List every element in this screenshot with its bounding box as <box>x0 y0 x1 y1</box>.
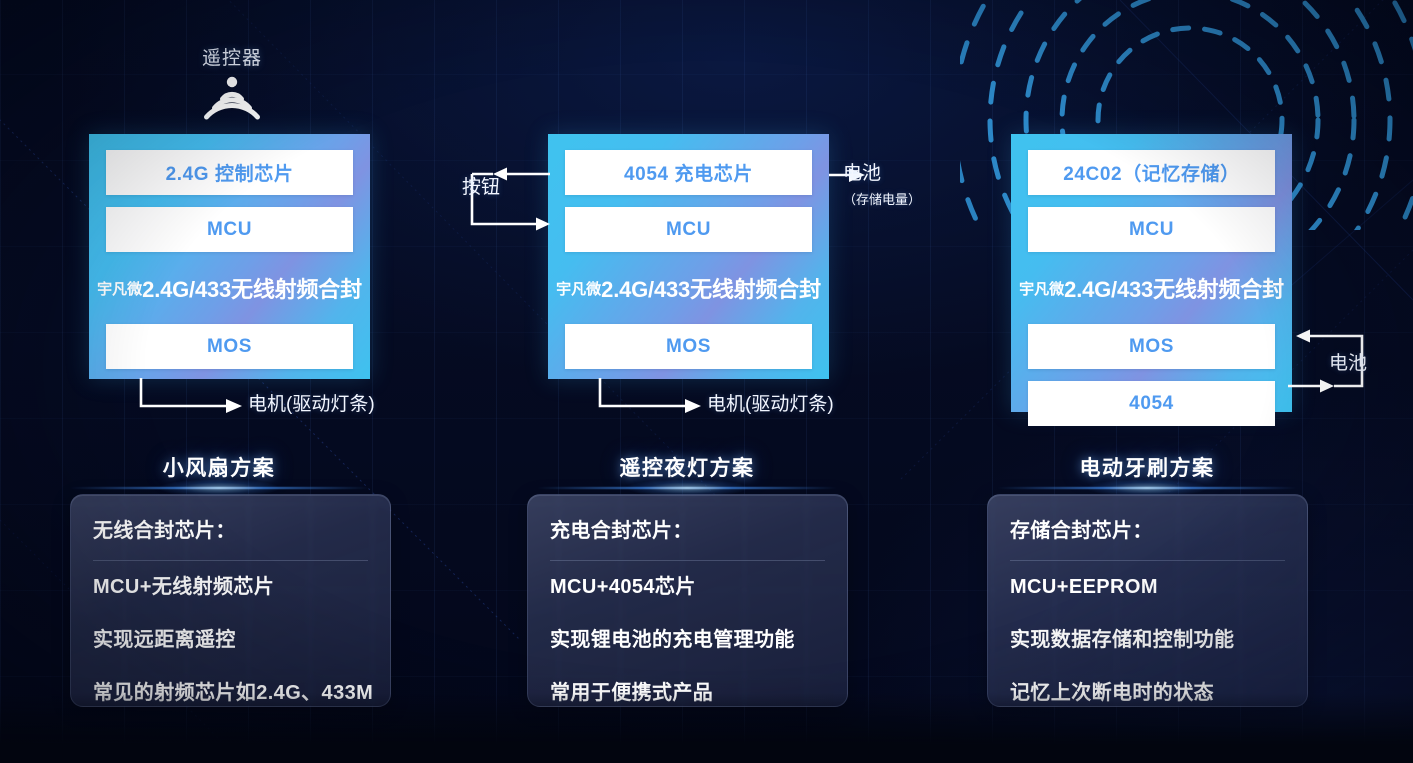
background-bottom-fade <box>0 693 1413 763</box>
infographic-canvas: 遥控器 2.4G 控制芯片 MCU 宇凡微 2.4G/433无线射频合封 MOS… <box>0 0 1413 763</box>
background-vignette <box>0 0 1413 763</box>
